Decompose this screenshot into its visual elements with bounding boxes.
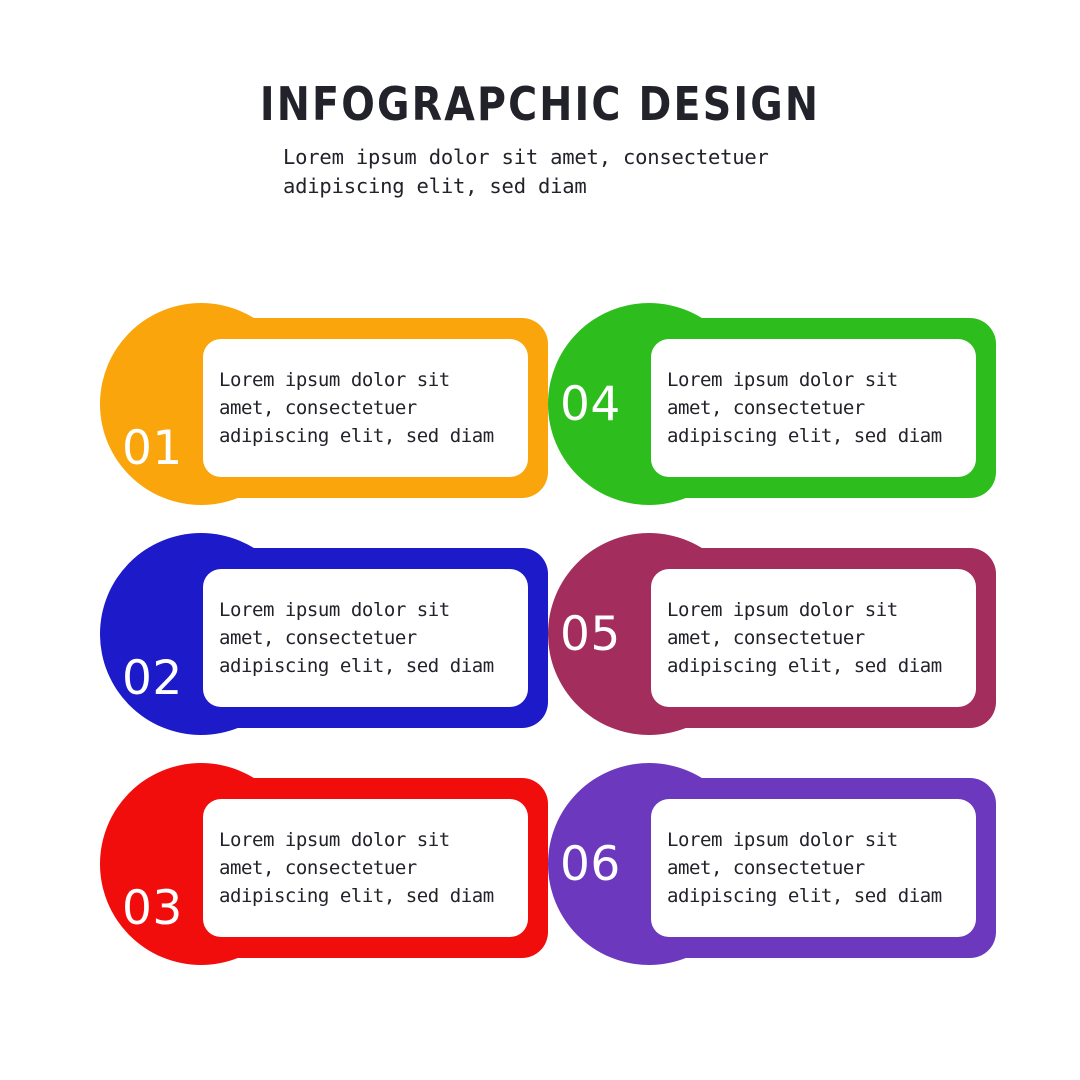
infographic-card-04[interactable]: 04Lorem ipsum dolor sit amet, consectetu…	[548, 303, 996, 513]
card-body-text-03: Lorem ipsum dolor sit amet, consectetuer…	[203, 826, 528, 910]
card-body-panel-05: Lorem ipsum dolor sit amet, consectetuer…	[651, 569, 976, 707]
card-number-04: 04	[560, 381, 621, 428]
card-number-03: 03	[122, 885, 183, 932]
infographic-card-grid: 01Lorem ipsum dolor sit amet, consectetu…	[0, 0, 1080, 1080]
card-body-text-02: Lorem ipsum dolor sit amet, consectetuer…	[203, 596, 528, 680]
card-number-01: 01	[122, 425, 183, 472]
card-number-05: 05	[560, 611, 621, 658]
infographic-card-01[interactable]: 01Lorem ipsum dolor sit amet, consectetu…	[100, 303, 548, 513]
infographic-card-05[interactable]: 05Lorem ipsum dolor sit amet, consectetu…	[548, 533, 996, 743]
card-number-02: 02	[122, 655, 183, 702]
infographic-card-03[interactable]: 03Lorem ipsum dolor sit amet, consectetu…	[100, 763, 548, 973]
infographic-card-02[interactable]: 02Lorem ipsum dolor sit amet, consectetu…	[100, 533, 548, 743]
card-body-text-01: Lorem ipsum dolor sit amet, consectetuer…	[203, 366, 528, 450]
card-body-text-04: Lorem ipsum dolor sit amet, consectetuer…	[651, 366, 976, 450]
card-body-text-05: Lorem ipsum dolor sit amet, consectetuer…	[651, 596, 976, 680]
card-body-panel-06: Lorem ipsum dolor sit amet, consectetuer…	[651, 799, 976, 937]
card-body-panel-02: Lorem ipsum dolor sit amet, consectetuer…	[203, 569, 528, 707]
card-body-panel-01: Lorem ipsum dolor sit amet, consectetuer…	[203, 339, 528, 477]
infographic-card-06[interactable]: 06Lorem ipsum dolor sit amet, consectetu…	[548, 763, 996, 973]
card-number-06: 06	[560, 841, 621, 888]
card-body-text-06: Lorem ipsum dolor sit amet, consectetuer…	[651, 826, 976, 910]
card-body-panel-03: Lorem ipsum dolor sit amet, consectetuer…	[203, 799, 528, 937]
card-body-panel-04: Lorem ipsum dolor sit amet, consectetuer…	[651, 339, 976, 477]
